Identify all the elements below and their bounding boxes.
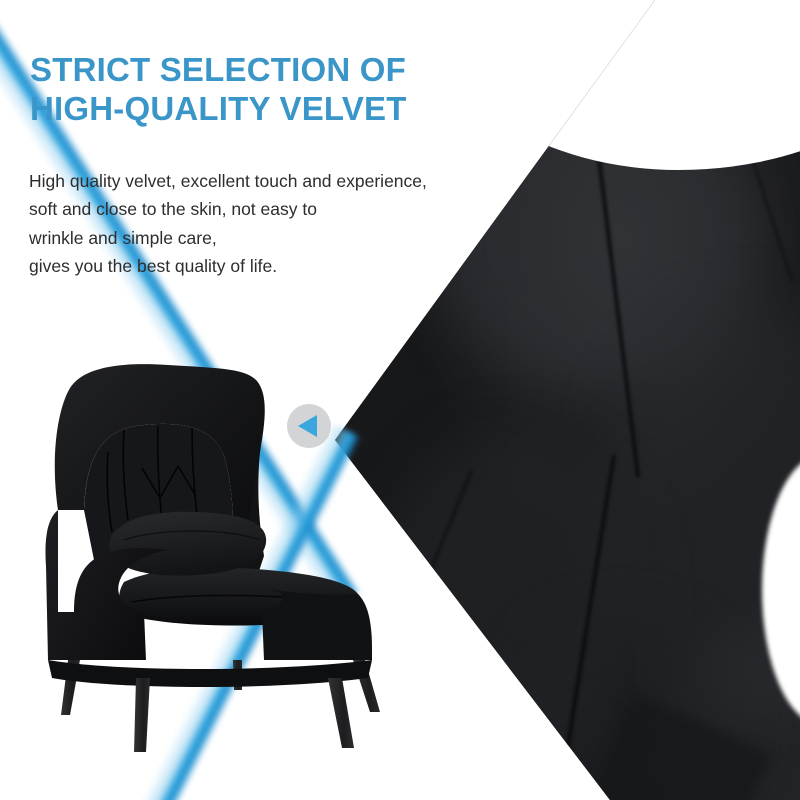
- body-copy-line-3: wrinkle and simple care,: [29, 224, 499, 252]
- body-copy-line-4: gives you the best quality of life.: [29, 252, 499, 280]
- body-copy-line-2: soft and close to the skin, not easy to: [29, 195, 499, 223]
- chair-front-legs: [134, 678, 354, 752]
- chair-base: [48, 660, 372, 687]
- body-copy: High quality velvet, excellent touch and…: [29, 167, 499, 280]
- product-feature-banner: STRICT SELECTION OF HIGH-QUALITY VELVET …: [0, 0, 800, 800]
- headline-line-2: HIGH-QUALITY VELVET: [30, 90, 500, 129]
- black-velvet-wingback-armchair-photo: [28, 360, 398, 760]
- body-copy-line-1: High quality velvet, excellent touch and…: [29, 167, 499, 195]
- lumbar-pillow: [109, 512, 266, 576]
- headline-line-1: STRICT SELECTION OF: [30, 51, 500, 90]
- headline: STRICT SELECTION OF HIGH-QUALITY VELVET: [30, 51, 500, 129]
